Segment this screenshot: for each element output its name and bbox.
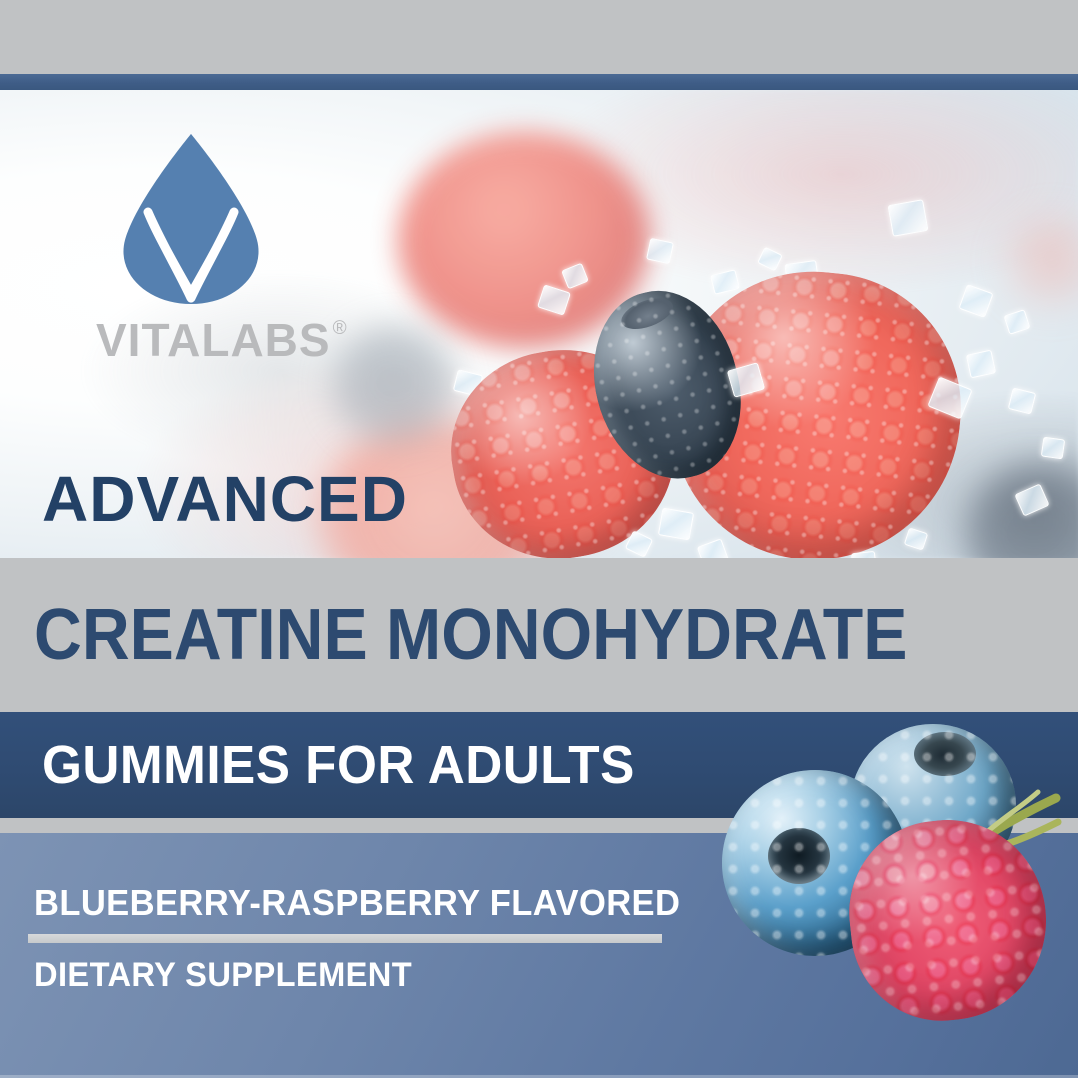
flavor-text: BLUEBERRY-RASPBERRY FLAVORED — [34, 882, 680, 924]
background-berry-blur-3 — [330, 326, 458, 446]
registered-trademark-mark: ® — [333, 319, 347, 338]
supplement-category-text: DIETARY SUPPLEMENT — [34, 956, 412, 995]
eyebrow-text: ADVANCED — [42, 467, 408, 531]
top-gray-cap — [0, 0, 1078, 74]
top-blue-rule — [0, 74, 1078, 90]
ice-shard — [646, 238, 674, 265]
product-form-band: GUMMIES FOR ADULTS — [0, 712, 1078, 818]
product-name-band: CREATINE MONOHYDRATE — [0, 558, 1078, 712]
product-label: VITALABS ® ADVANCED CREATINE MONOHYDRATE… — [0, 0, 1078, 1078]
brand-wordmark: VITALABS — [96, 317, 331, 363]
product-name-text: CREATINE MONOHYDRATE — [34, 599, 907, 671]
footer-divider — [28, 934, 662, 943]
band-separator — [0, 818, 1078, 833]
droplet-leaf-icon — [96, 128, 286, 318]
brand-logo: VITALABS ® — [96, 128, 326, 363]
ice-shard — [887, 199, 928, 237]
eyebrow-row: ADVANCED — [0, 440, 1078, 558]
product-form-text: GUMMIES FOR ADULTS — [42, 738, 635, 792]
